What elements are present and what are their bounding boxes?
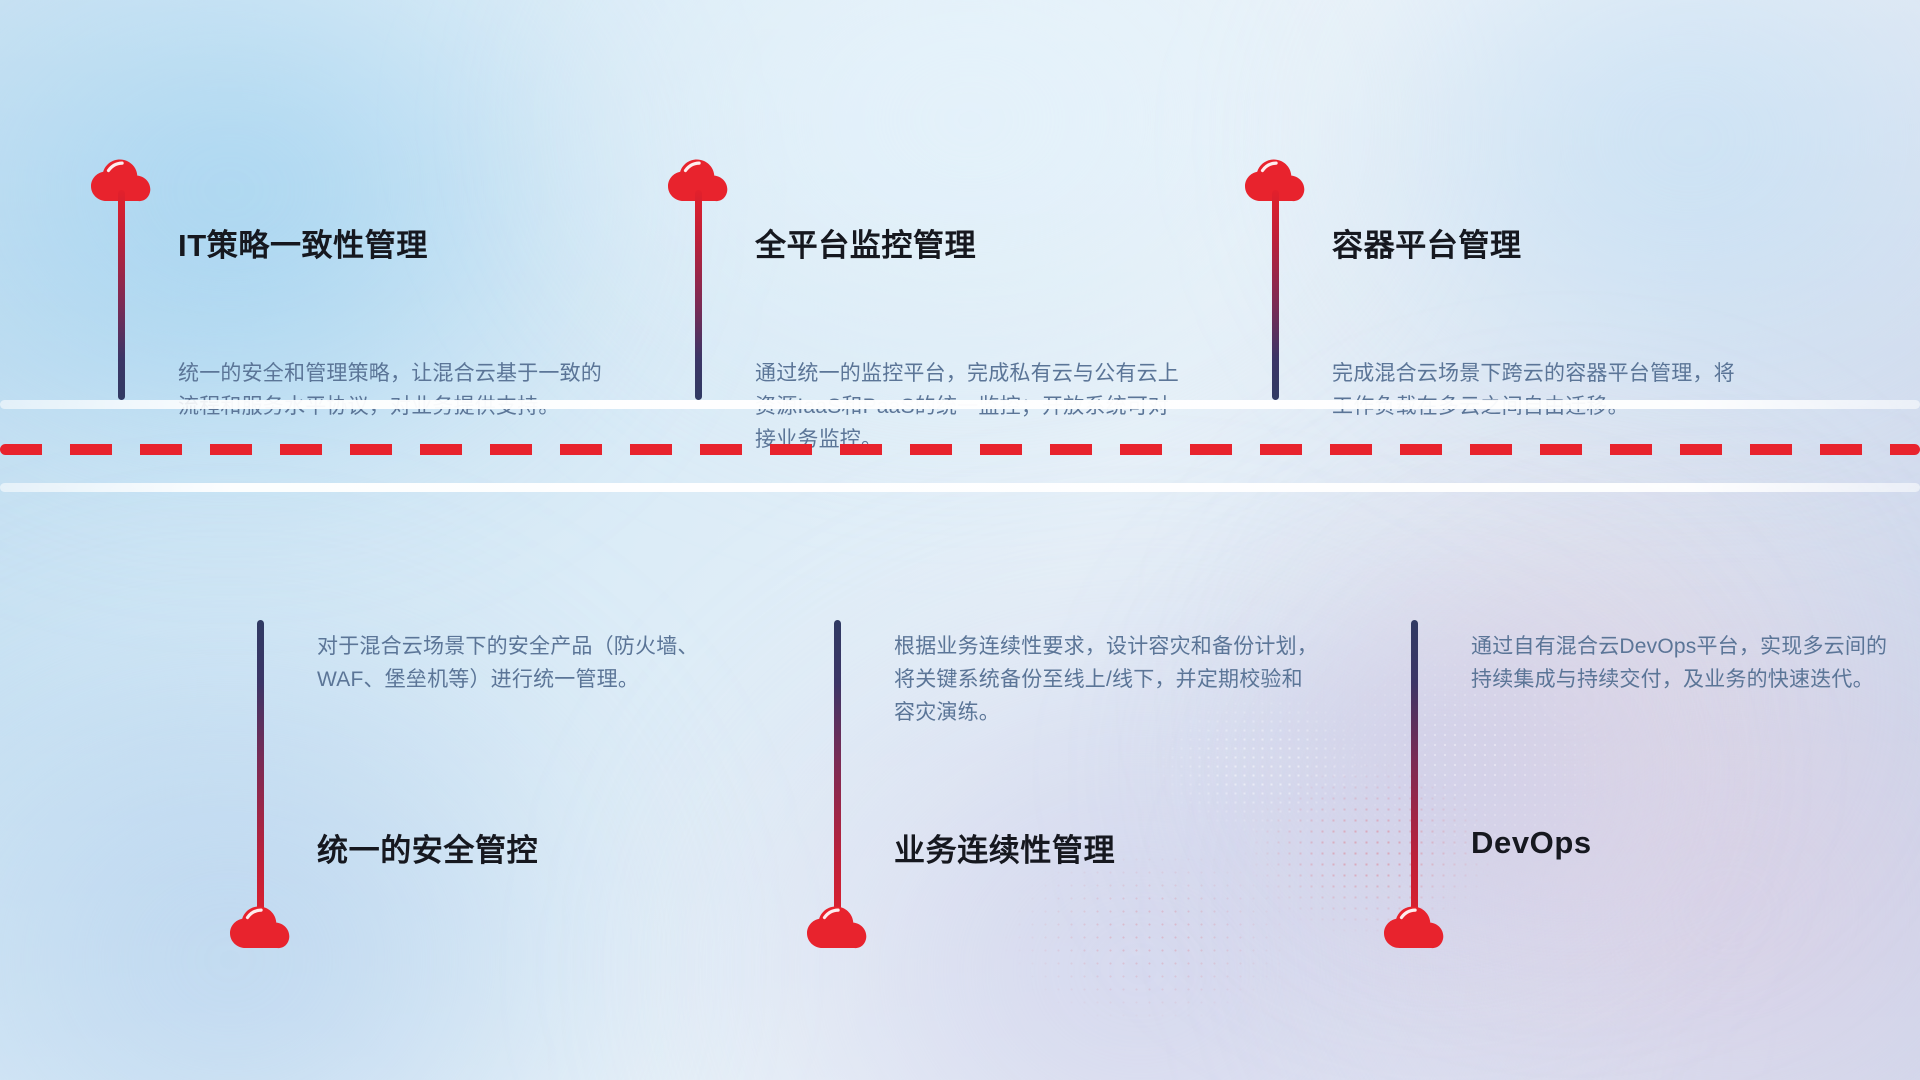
connector-stem xyxy=(695,190,702,400)
connector-stem xyxy=(257,620,264,932)
capability-description: 完成混合云场景下跨云的容器平台管理，将工作负载在多云之间自由迁移。 xyxy=(1332,357,1754,423)
cloud-pin-icon xyxy=(806,905,868,949)
capability-title: 业务连续性管理 xyxy=(894,825,1115,870)
divider-rule-bottom xyxy=(0,483,1920,492)
capability-title: 统一的安全管控 xyxy=(317,825,538,870)
connector-stem xyxy=(1272,190,1279,400)
cloud-pin-icon xyxy=(229,905,291,949)
connector-stem xyxy=(118,190,125,400)
connector-stem xyxy=(834,620,841,932)
capability-title: 全平台监控管理 xyxy=(755,220,976,265)
divider-rule-top xyxy=(0,400,1920,409)
capability-title: 容器平台管理 xyxy=(1332,220,1522,265)
capability-description: 根据业务连续性要求，设计容灾和备份计划，将关键系统备份至线上/线下，并定期校验和… xyxy=(894,630,1319,729)
cloud-pin-icon xyxy=(1383,905,1445,949)
capability-title: IT策略一致性管理 xyxy=(178,220,428,265)
capability-description: 统一的安全和管理策略，让混合云基于一致的流程和服务水平协议，对业务提供支持。 xyxy=(178,357,603,423)
infographic-canvas: IT策略一致性管理 统一的安全和管理策略，让混合云基于一致的流程和服务水平协议，… xyxy=(0,0,1920,1080)
divider-dashed-line xyxy=(0,444,1920,455)
capability-description: 对于混合云场景下的安全产品（防火墙、WAF、堡垒机等）进行统一管理。 xyxy=(317,630,742,696)
connector-stem xyxy=(1411,620,1418,932)
capability-title: DevOps xyxy=(1471,825,1592,861)
capability-description: 通过自有混合云DevOps平台，实现多云间的持续集成与持续交付，及业务的快速迭代… xyxy=(1471,630,1896,696)
